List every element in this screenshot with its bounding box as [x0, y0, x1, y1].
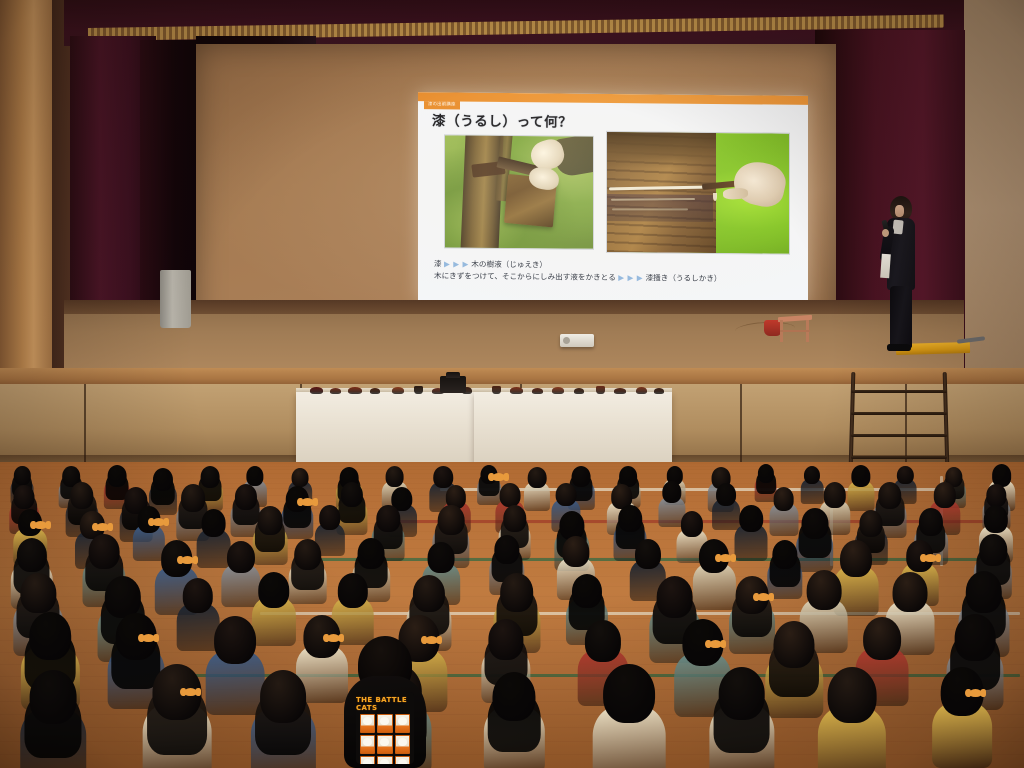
child-head [488, 619, 523, 660]
child-head [385, 466, 404, 488]
child-head [772, 540, 797, 569]
wall-left-pillar-light [0, 0, 58, 400]
audience-child [146, 664, 207, 768]
child-head [14, 466, 30, 485]
child-head [89, 534, 120, 569]
audience-child [696, 539, 734, 605]
lacquerware-item [414, 386, 423, 394]
cat-figure-icon [398, 738, 407, 746]
battle-cats-card [395, 735, 410, 754]
child-head [892, 572, 927, 612]
assembly-photo-scene: 漆の出前講座 漆（うるし）って何？ 漆 [0, 0, 1024, 768]
child-head [851, 465, 870, 487]
child-head [500, 483, 521, 507]
audience-child [526, 467, 549, 508]
child-head [572, 574, 602, 609]
child-head [377, 505, 400, 532]
child-head [656, 576, 693, 618]
battle-cats-card-grid [360, 714, 410, 764]
hair-bow [142, 634, 155, 642]
hair-bow [96, 523, 109, 531]
battle-cats-card [360, 714, 375, 733]
hair-bow [757, 593, 770, 601]
child-head [215, 616, 257, 664]
cat-figure-icon [380, 717, 389, 725]
cat-figure-icon [398, 717, 407, 725]
cat-figure-icon [363, 717, 372, 725]
presenter [880, 196, 922, 354]
photo-right-sap-cut-3 [612, 208, 688, 210]
lacquerware-item [330, 388, 341, 394]
presenter-notes [880, 254, 891, 279]
child-head [585, 620, 621, 662]
child-head [258, 572, 290, 608]
child-head [878, 482, 902, 509]
presenter-collar [892, 220, 903, 235]
photo-right-trunk-shadow [607, 132, 716, 169]
lacquerware-item [510, 387, 523, 394]
presenter-hand [882, 229, 889, 237]
caption-term-urushi: 漆 [434, 259, 442, 268]
presenter-face [895, 205, 904, 217]
audience-child [209, 616, 261, 708]
audience-child [283, 486, 311, 535]
child-head [555, 483, 576, 507]
ladder-rung [851, 434, 947, 437]
battle-cats-card [360, 735, 375, 754]
audience-child [822, 667, 883, 768]
audience-child [771, 487, 797, 532]
hair-bow [924, 554, 937, 562]
child-head [14, 485, 35, 509]
child-head [261, 670, 307, 723]
child-head [603, 664, 655, 724]
child-head [16, 538, 46, 573]
child-head [338, 573, 368, 608]
child-head [29, 612, 71, 660]
hair-bow [492, 473, 505, 481]
audience-crowd: THE BATTLE CATS [0, 440, 1024, 768]
audience-child-featured: THE BATTLE CATS [352, 636, 418, 768]
child-head [933, 482, 955, 508]
child-head [919, 508, 943, 536]
child-head [428, 542, 455, 573]
lacquerware-item [654, 388, 664, 394]
caption-arrows-2: ▶ ▶ ▶ [618, 273, 643, 282]
red-stool [778, 316, 812, 342]
black-lacquer-box-lid [446, 372, 460, 378]
child-head [438, 505, 465, 536]
child-head [801, 508, 828, 539]
audience-child [769, 540, 801, 595]
slide-header-tag: 漆の出前講座 [424, 101, 460, 109]
child-head [493, 672, 536, 722]
stage-floor-back-shadow [64, 300, 964, 314]
battle-cats-brand-text: THE BATTLE CATS [356, 696, 414, 712]
audience-child [737, 505, 766, 557]
child-head [294, 539, 322, 571]
battle-cats-shirt-graphic: THE BATTLE CATS [356, 692, 414, 764]
child-head [227, 541, 255, 573]
child-head [153, 468, 173, 491]
cat-figure-icon [398, 759, 407, 764]
caption-text-2: 木にきずをつけて、そこからにしみ出す液をかきとる [434, 271, 616, 282]
child-head [955, 614, 996, 661]
lacquerware-item [348, 387, 362, 394]
audience-child [597, 664, 662, 768]
hair-bow [425, 636, 438, 644]
child-head [823, 482, 845, 508]
caption-arrows-1: ▶ ▶ ▶ [444, 259, 469, 268]
lacquerware-item [552, 387, 564, 394]
audience-child [769, 621, 820, 711]
hair-bow [719, 554, 732, 562]
child-head [503, 505, 526, 532]
child-head [413, 575, 445, 612]
presenter-legs [890, 286, 912, 348]
audience-child [713, 667, 771, 768]
lacquerware-item [532, 388, 543, 394]
child-head [528, 467, 547, 488]
stool-crossbar [780, 330, 810, 332]
child-head [773, 487, 794, 511]
lacquerware-item [596, 386, 605, 394]
child-head [183, 578, 213, 613]
battle-cats-card [395, 714, 410, 733]
projected-slide: 漆の出前講座 漆（うるし）って何？ 漆 [418, 92, 808, 306]
black-lacquer-box [440, 376, 466, 393]
battle-cats-card [377, 714, 392, 733]
lacquerware-item [614, 388, 626, 394]
hair-bow [327, 634, 340, 642]
child-head [806, 570, 841, 610]
slide-caption-line-1: 漆 ▶ ▶ ▶ 木の樹液（じゅえき） [434, 258, 547, 270]
audience-child [732, 576, 773, 648]
child-head [181, 484, 205, 511]
presenter-shoes [887, 344, 911, 351]
child-head [965, 571, 1001, 613]
child-head [201, 509, 226, 538]
lacquerware-item [370, 388, 380, 394]
slide-title: 漆（うるし）って何？ [432, 113, 572, 130]
audience-child [24, 670, 82, 768]
child-head [681, 511, 703, 536]
hair-bow [709, 640, 722, 648]
child-head [828, 667, 877, 723]
audience-child [802, 466, 822, 501]
slide-caption-line-2: 木にきずをつけて、そこからにしみ出す液をかきとる ▶ ▶ ▶ 漆掻き（うるしかき… [434, 270, 722, 284]
child-head [716, 483, 736, 506]
battle-cats-card [395, 756, 410, 764]
audience-child [150, 468, 175, 512]
child-head [358, 538, 385, 569]
child-head [619, 505, 643, 532]
child-head [319, 505, 341, 530]
child-head [108, 465, 127, 487]
hair-bow [184, 688, 197, 696]
lacquerware-item [310, 387, 323, 394]
audience-child [488, 672, 542, 766]
child-head [864, 617, 902, 660]
child-head [758, 464, 774, 483]
cat-figure-icon [380, 759, 389, 764]
child-head [246, 466, 263, 486]
child-head [494, 535, 519, 564]
ladder-rung [851, 390, 947, 393]
child-head [341, 482, 363, 508]
audience-child [255, 670, 312, 768]
child-head [987, 484, 1006, 506]
cat-figure-icon [363, 738, 372, 746]
trash-bin [160, 270, 191, 328]
battle-cats-card [377, 735, 392, 754]
projector-lens [563, 337, 570, 344]
audience-child [798, 508, 832, 567]
cat-figure-icon [380, 738, 389, 746]
child-head [30, 670, 77, 724]
audience-child [290, 539, 325, 599]
hair-bow [152, 518, 165, 526]
audience-child [255, 506, 286, 560]
battle-cats-card [360, 756, 375, 764]
ladder-rung [851, 412, 947, 415]
child-head [774, 621, 815, 668]
audience-child [713, 483, 738, 527]
child-head [292, 468, 309, 487]
lacquerware-item [574, 388, 584, 394]
photo-right-sap-drip [713, 193, 717, 201]
child-head [258, 506, 283, 534]
hair-bow [301, 498, 314, 506]
child-head [662, 481, 681, 503]
child-head [804, 466, 820, 484]
child-head [105, 576, 141, 618]
caption-text-1: 木の樹液（じゅえき） [471, 260, 547, 270]
slide-photo-right [606, 131, 790, 255]
child-head [70, 482, 93, 509]
child-head [740, 505, 764, 532]
child-head [500, 573, 534, 612]
child-head [562, 536, 589, 567]
child-head [718, 667, 765, 721]
child-head [635, 539, 661, 569]
hair-bow [34, 521, 47, 529]
battle-cats-card [377, 756, 392, 764]
slide-photo-left [444, 134, 594, 249]
child-head [21, 573, 56, 614]
child-head [984, 505, 1008, 533]
audience-child [849, 465, 873, 507]
child-head [979, 534, 1006, 566]
lacquerware-item [492, 386, 501, 394]
caption-term-urushikaki: 漆掻き（うるしかき） [646, 273, 722, 283]
audience-child [936, 667, 989, 760]
audience-child [223, 541, 258, 602]
hair-bow [181, 556, 194, 564]
lacquerware-item [392, 387, 404, 394]
hair-bow [969, 689, 982, 697]
cat-figure-icon [363, 759, 372, 764]
projector [560, 334, 594, 347]
child-head [860, 510, 883, 537]
lacquerware-item [636, 387, 647, 394]
